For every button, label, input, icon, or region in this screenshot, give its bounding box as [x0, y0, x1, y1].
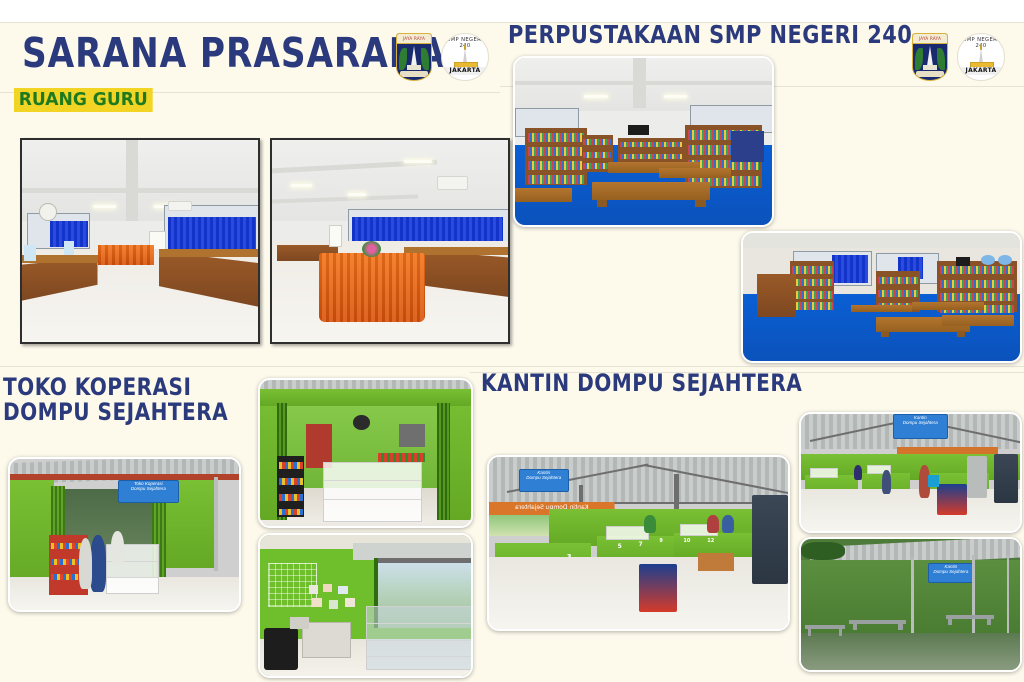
wooden-cabinet-left	[757, 274, 796, 318]
photo-scene	[515, 58, 772, 225]
canteen-customer	[882, 470, 891, 493]
kantin-sign-line2: Dompu Sejahtera	[894, 420, 947, 425]
snack-row	[279, 478, 303, 485]
craft-item	[312, 598, 321, 607]
food-display-case	[810, 468, 838, 478]
metal-bench-left	[805, 625, 844, 629]
book-row	[792, 279, 833, 287]
canopy-post	[1007, 555, 1010, 639]
photo-scene: Kantin Dompu Sejahtera	[801, 539, 1020, 670]
emblem-motto: JAYA RAYA	[913, 34, 947, 44]
ceiling-light	[664, 95, 687, 98]
school-emblem-icon: SMP NEGERI 240 JAKARTA	[957, 33, 1005, 81]
photo-scene: Kantin Dompu Sejahtera Kantin Dompu Seja…	[489, 457, 788, 629]
orange-draped-table	[319, 253, 425, 322]
book-row	[940, 280, 1014, 288]
case-shelf-line	[367, 623, 473, 624]
craft-item	[323, 584, 332, 593]
photo-scene	[272, 140, 508, 342]
book-row	[940, 266, 1014, 274]
book-row	[528, 161, 585, 170]
photo-kantin-2: Kantin Dompu Sejahtera	[799, 412, 1022, 533]
case-shelf-line	[324, 480, 421, 481]
glass-display-counter	[323, 462, 422, 522]
food-display-case	[606, 526, 650, 540]
emblem-ribbon	[916, 71, 944, 77]
folding-door-right	[437, 403, 450, 520]
window-header	[378, 558, 471, 564]
divider-rule-section	[0, 366, 1024, 367]
television	[956, 257, 970, 266]
stall-number: 7	[639, 541, 643, 548]
emblem-branch-left	[399, 48, 407, 70]
school-emblem-icon: SMP NEGERI 240 JAKARTA	[441, 33, 489, 81]
book-row	[583, 152, 611, 158]
whiteboard	[329, 225, 343, 247]
ceiling-light	[93, 205, 117, 208]
wall-clock-icon	[39, 203, 58, 221]
emblem-monas-icon	[411, 46, 417, 66]
reading-table-mid	[659, 168, 731, 178]
bench-leg	[808, 629, 811, 636]
snack-row	[279, 462, 303, 469]
photo-ruang-guru-2	[270, 138, 510, 344]
outdoor-greenery	[489, 515, 549, 536]
refrigerator	[752, 495, 788, 584]
stall-number: 5	[618, 543, 622, 550]
canteen-staff	[644, 515, 656, 532]
globe-icon	[981, 255, 995, 265]
canteen-staff	[707, 515, 719, 532]
craft-item	[338, 586, 347, 595]
photo-toko-koperasi-1: Toko Koperasi Dompu Sejahtera	[8, 457, 241, 612]
stall-number: 10	[683, 538, 690, 544]
school-emblem-monas-icon	[979, 48, 983, 63]
stall-number: 12	[707, 538, 714, 544]
photo-ruang-guru-1	[20, 138, 260, 344]
emblem-branch-left	[915, 48, 923, 70]
desk-surface-right	[159, 249, 260, 257]
bench-leg	[898, 624, 903, 631]
glass-display-cabinet	[366, 606, 474, 670]
section-title-kantin: KANTIN DOMPU SEJAHTERA	[481, 371, 802, 396]
toko-sign-line2: Dompu Sejahtera	[119, 486, 179, 491]
photo-scene	[743, 233, 1020, 361]
book-row	[620, 142, 681, 147]
case-shelf-line	[324, 499, 421, 500]
curtain-left	[832, 255, 868, 283]
book-row	[878, 277, 919, 284]
table-leg	[881, 331, 889, 337]
reading-table-1	[851, 305, 912, 313]
toko-signboard: Toko Koperasi Dompu Sejahtera	[118, 480, 180, 503]
ceiling-beam	[126, 140, 138, 221]
emblem-monas-base	[923, 65, 937, 70]
notice-board	[731, 131, 764, 161]
curtain-right	[168, 217, 255, 249]
work-desk	[302, 622, 350, 658]
canteen-staff	[854, 465, 863, 479]
globe-icon	[998, 255, 1012, 265]
section-title-perpustakaan: PERPUSTAKAAN SMP NEGERI 240	[508, 22, 912, 48]
snack-row	[279, 494, 303, 501]
reading-table-2	[912, 302, 984, 310]
photo-scene: Toko Koperasi Dompu Sejahtera	[10, 459, 239, 610]
kantin-sign-line2: Dompu Sejahtera	[929, 569, 973, 574]
beverage-cooler	[994, 454, 1018, 503]
book-row	[583, 139, 611, 145]
water-dispenser	[24, 245, 36, 261]
craft-item	[345, 598, 354, 607]
photo-perpustakaan-1	[513, 56, 774, 227]
table-leg	[597, 200, 608, 208]
poster-page: SARANA PRASARANA RUANG GURU PERPUSTAKAAN…	[0, 0, 1024, 682]
student-shopper	[79, 538, 93, 589]
tree-foliage	[801, 542, 845, 560]
wall-fan-icon	[353, 415, 370, 430]
craft-item	[329, 600, 338, 609]
metal-bench-mid	[849, 620, 906, 624]
case-shelf-line	[367, 640, 473, 641]
bench-leg	[948, 619, 952, 626]
green-facade-left	[10, 480, 54, 589]
support-post	[214, 477, 219, 571]
craft-display-grid	[306, 583, 365, 617]
section-title-toko-koperasi: TOKO KOPERASI DOMPU SEJAHTERA	[3, 375, 228, 425]
wall-display-rack	[399, 424, 424, 447]
kantin-wall-sign: Kantin Dompu Sejahtera	[928, 563, 974, 583]
kantin-hanging-sign: Kantin Dompu Sejahtera	[893, 414, 948, 439]
emblem-monas-base	[407, 65, 421, 70]
photo-toko-koperasi-2	[258, 378, 473, 528]
reading-table-4	[942, 315, 1014, 327]
water-container	[928, 475, 939, 487]
photo-kantin-1: Kantin Dompu Sejahtera Kantin Dompu Seja…	[487, 455, 790, 631]
snack-rack	[277, 456, 304, 517]
reading-table-front	[592, 182, 710, 200]
photo-scene	[260, 380, 471, 526]
photo-scene	[260, 535, 471, 676]
top-white-band	[0, 0, 1024, 22]
emblem-ribbon	[400, 71, 428, 77]
book-row	[528, 147, 585, 156]
student-shopper	[111, 531, 125, 564]
air-conditioner	[168, 201, 191, 211]
ceiling-light	[348, 193, 367, 196]
orange-table-cloth	[98, 245, 155, 265]
book-row	[528, 175, 585, 184]
table-leg	[957, 331, 965, 337]
bench-leg	[987, 619, 991, 626]
case-shelf-line	[107, 577, 157, 578]
book-row	[792, 266, 833, 274]
jakarta-province-emblem-icon: JAYA RAYA	[912, 33, 948, 81]
case-shelf-line	[367, 656, 473, 657]
photo-perpustakaan-2	[741, 231, 1022, 363]
desk-organizer	[290, 617, 309, 630]
flower-vase	[362, 241, 381, 257]
ceiling-light	[291, 184, 312, 187]
office-chair	[264, 628, 298, 670]
book-row	[792, 302, 833, 310]
emblem-motto: JAYA RAYA	[397, 34, 431, 44]
student-shopper	[90, 535, 106, 592]
ceiling-beam	[22, 188, 258, 193]
bench-leg	[839, 629, 842, 636]
book-row	[940, 293, 1014, 301]
photo-scene: Kantin Dompu Sejahtera	[801, 414, 1020, 531]
ceiling-light	[584, 95, 607, 98]
school-emblem-banner-text: JAKARTA	[445, 67, 485, 75]
page-title-sarana-prasarana: SARANA PRASARANA	[22, 32, 446, 75]
book-row	[878, 290, 919, 297]
counter-goods	[378, 453, 424, 462]
photo-kantin-3: Kantin Dompu Sejahtera	[799, 537, 1022, 672]
bookshelf-left-wall	[790, 261, 834, 310]
emblem-monas-icon	[927, 46, 933, 66]
reading-table-left	[513, 188, 572, 201]
snack-row	[279, 509, 303, 516]
tiled-floor	[801, 489, 1020, 531]
air-conditioner	[437, 176, 467, 190]
ceiling-light	[404, 160, 432, 163]
ice-cream-cooler	[937, 484, 968, 514]
book-row	[620, 154, 681, 159]
kantin-hanging-sign: Kantin Dompu Sejahtera	[519, 469, 569, 492]
ice-cream-cooler	[639, 564, 678, 612]
school-emblem-monas-icon	[463, 48, 467, 63]
floor	[801, 633, 1020, 670]
bench-leg	[853, 624, 858, 631]
photo-toko-koperasi-3	[258, 533, 473, 678]
cardboard-box	[698, 553, 734, 570]
refrigerator	[967, 456, 987, 498]
book-row	[792, 291, 833, 299]
stall-number: 9	[659, 538, 662, 544]
kantin-sign-line2: Dompu Sejahtera	[520, 475, 568, 480]
metal-bench-right	[946, 615, 994, 619]
book-row	[528, 133, 585, 142]
jakarta-province-emblem-icon: JAYA RAYA	[396, 33, 432, 81]
television	[628, 125, 649, 135]
photo-scene	[22, 140, 258, 342]
bookshelf-left	[525, 128, 587, 185]
table-leg	[695, 200, 706, 208]
craft-item	[309, 585, 318, 594]
emblem-branch-right	[421, 48, 429, 70]
canteen-staff	[722, 515, 734, 532]
section-label-ruang-guru: RUANG GURU	[14, 88, 153, 112]
water-dispenser	[64, 241, 73, 255]
school-emblem-banner-text: JAKARTA	[961, 67, 1001, 75]
ceiling-beam	[633, 58, 646, 108]
emblem-branch-right	[937, 48, 945, 70]
